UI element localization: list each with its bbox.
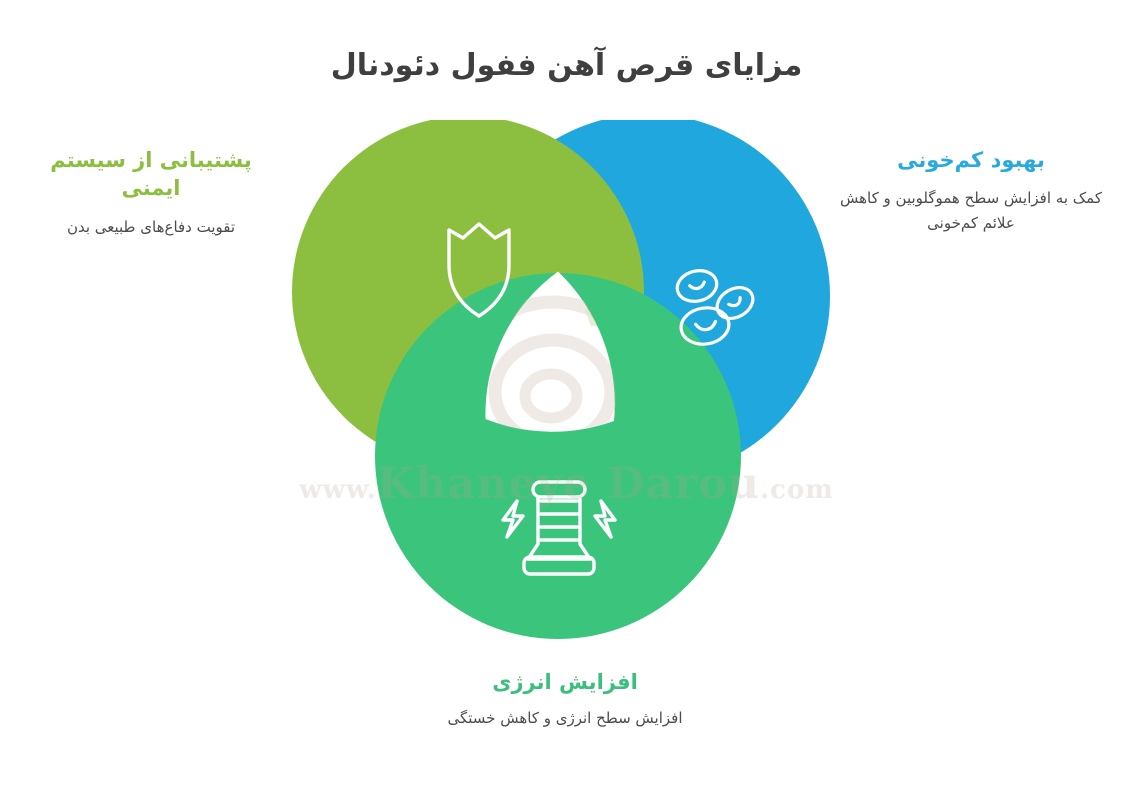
label-block-anemia: بهبود کم‌خونی کمک به افزایش سطح هموگلوبی…	[840, 146, 1102, 235]
label-block-energy: افزایش انرژی افزایش سطح انرژی و کاهش خست…	[400, 668, 730, 731]
infographic-canvas: مزایای قرص آهن ففول دئودنال	[0, 0, 1133, 800]
label-description-immune: تقویت دفاع‌های طبیعی بدن	[20, 215, 282, 239]
label-description-anemia: کمک به افزایش سطح هموگلوبین و کاهش علائم…	[840, 186, 1102, 235]
label-heading-energy: افزایش انرژی	[400, 668, 730, 696]
label-description-energy: افزایش سطح انرژی و کاهش خستگی	[400, 706, 730, 730]
label-heading-immune: پشتیبانی از سیستم ایمنی	[20, 146, 282, 203]
label-heading-anemia: بهبود کم‌خونی	[840, 146, 1102, 174]
page-title: مزایای قرص آهن ففول دئودنال	[0, 46, 1133, 85]
label-block-immune: پشتیبانی از سیستم ایمنی تقویت دفاع‌های ط…	[20, 146, 282, 239]
venn-svg	[285, 120, 845, 650]
venn-diagram	[285, 120, 845, 650]
